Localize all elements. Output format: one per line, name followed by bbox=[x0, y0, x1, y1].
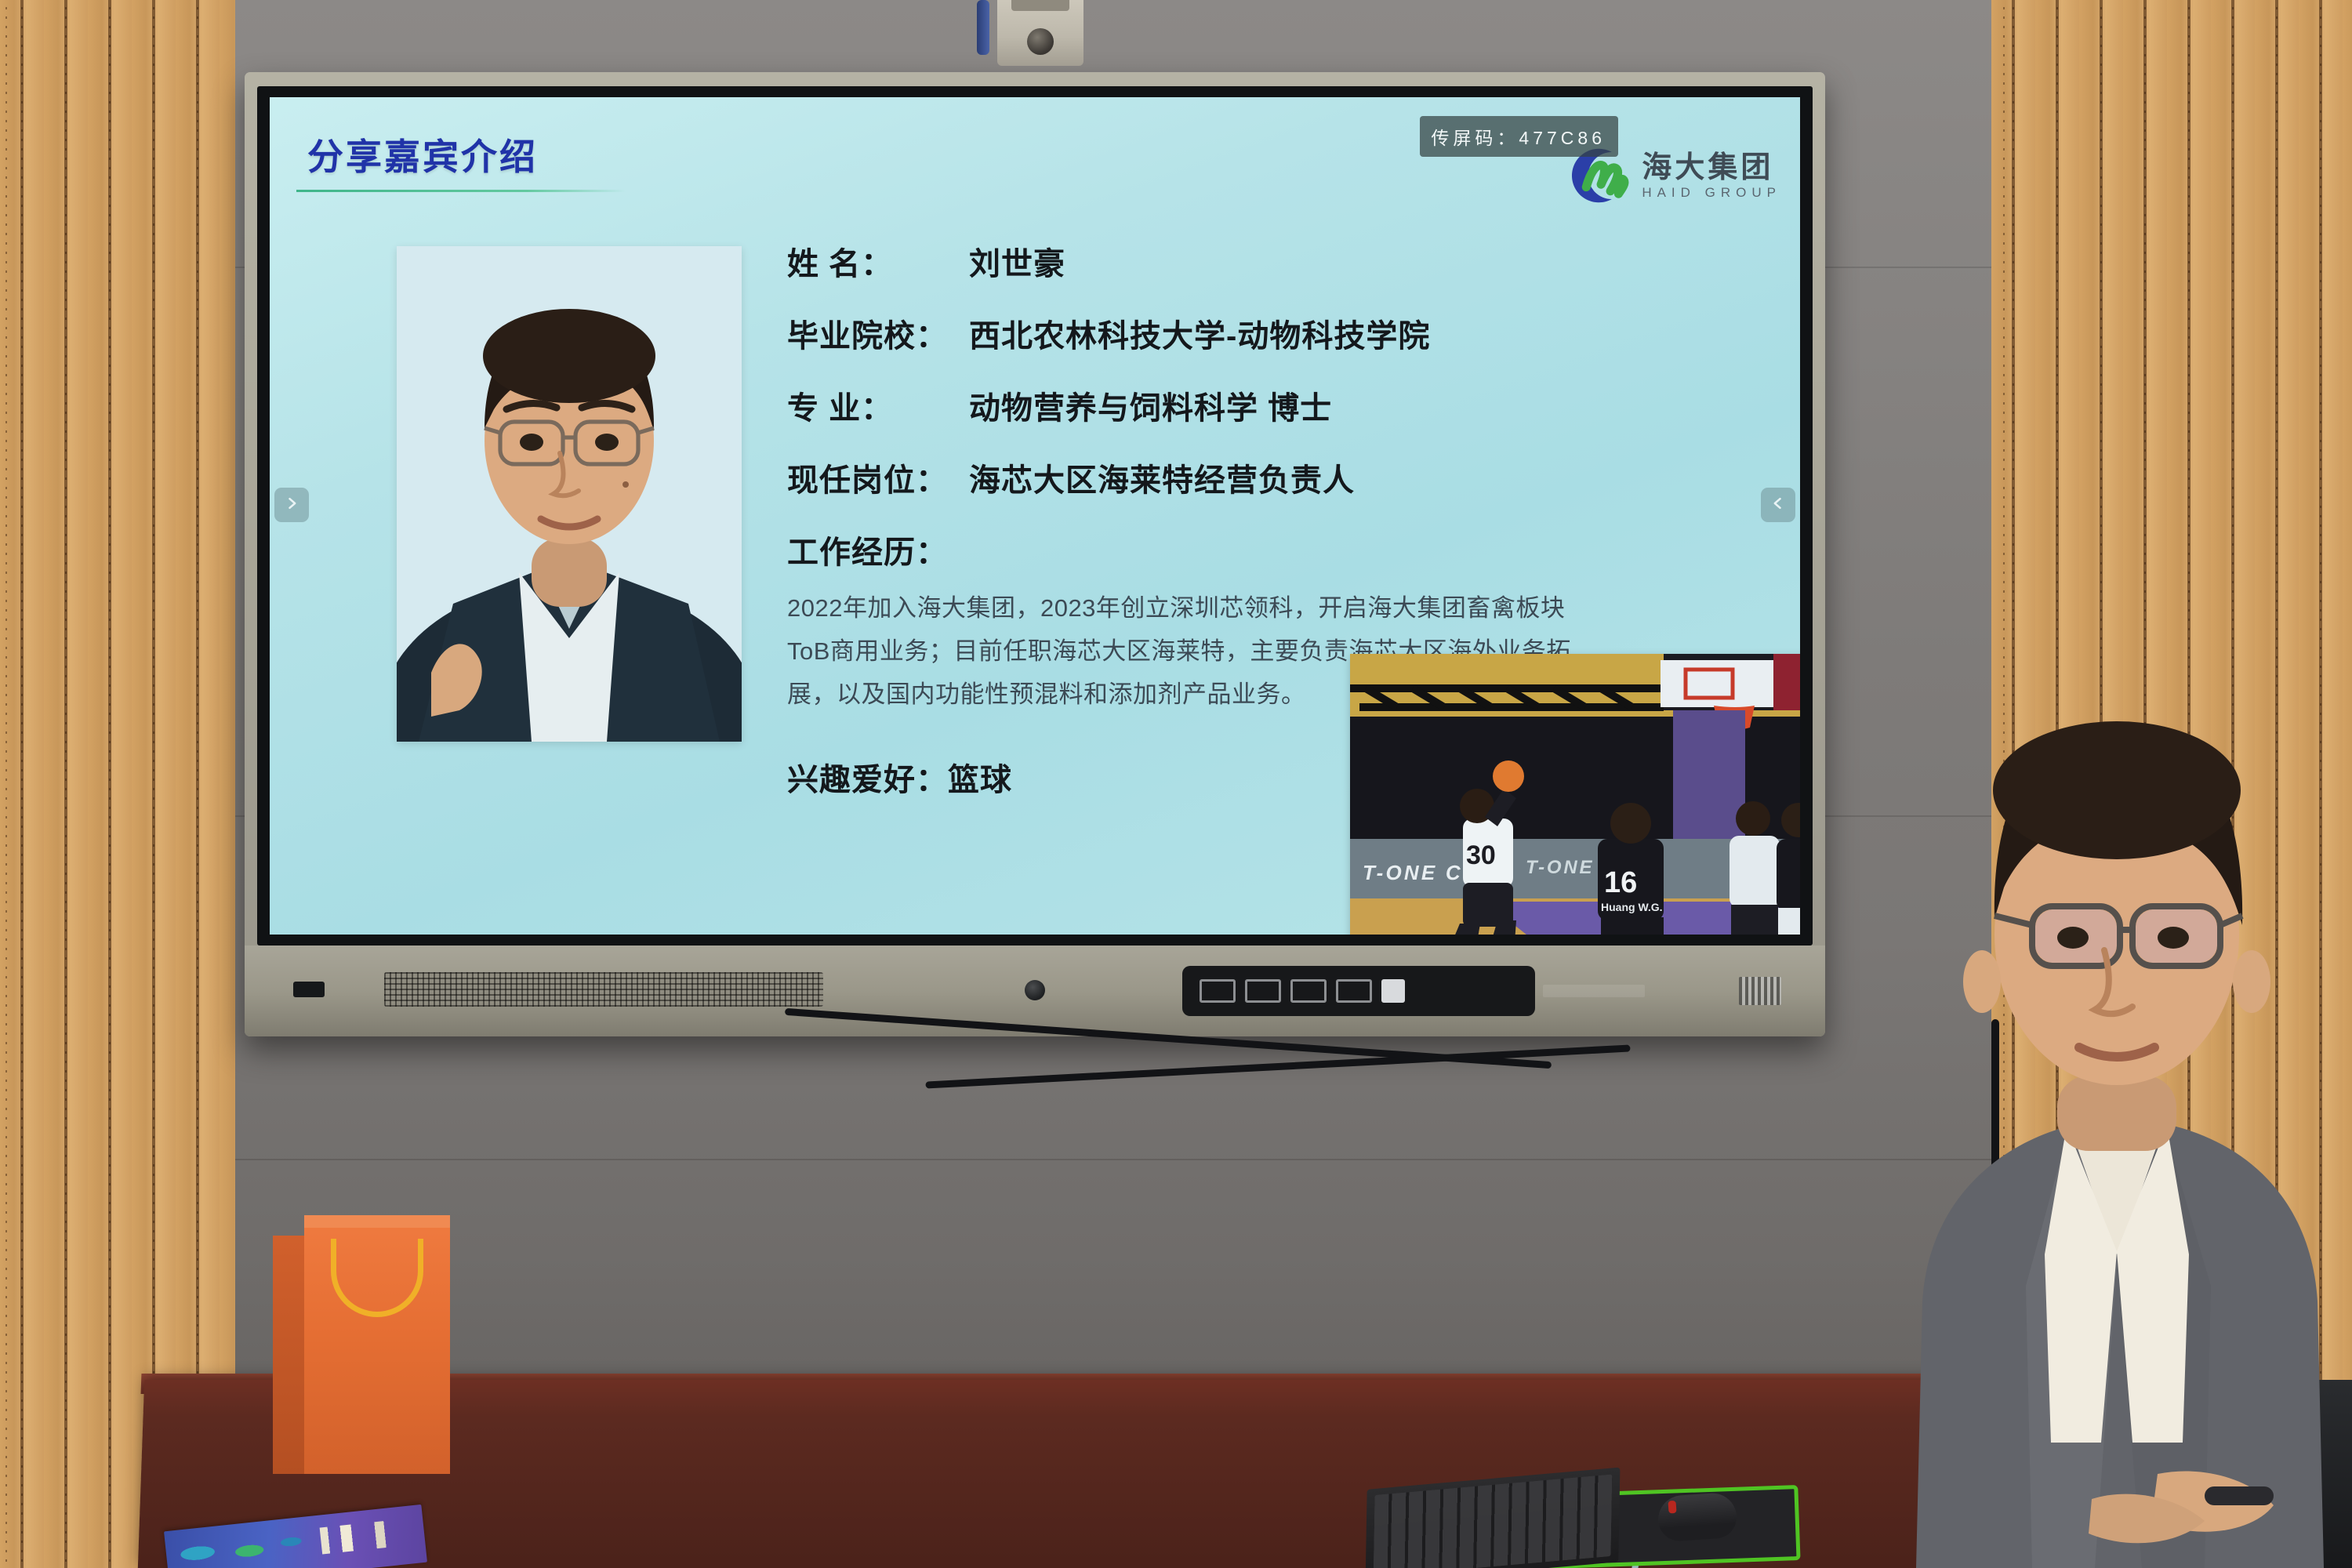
power-button[interactable] bbox=[1025, 980, 1045, 1000]
fact-value: 海芯大区海莱特经营负责人 bbox=[969, 455, 1355, 500]
svg-text:16: 16 bbox=[1604, 866, 1637, 899]
brand-plate bbox=[1543, 985, 1645, 997]
svg-text:30: 30 bbox=[1466, 840, 1496, 870]
ir-sensor-icon bbox=[293, 982, 325, 997]
fact-label: 现任岗位： bbox=[787, 455, 969, 500]
usb-port-icon[interactable] bbox=[1245, 979, 1281, 1003]
port-panel[interactable] bbox=[1182, 966, 1535, 1016]
presenter-person bbox=[1882, 627, 2352, 1568]
fact-value: 西北农林科技大学-动物科技学院 bbox=[969, 310, 1430, 356]
title-underline bbox=[296, 190, 626, 192]
gift-bag-top bbox=[304, 1215, 450, 1228]
basketball-photo: T-ONE CLUB T-ONE CL 30 bbox=[1350, 654, 1800, 935]
keyboard-keys bbox=[1374, 1474, 1613, 1568]
hdmi-port-2-icon[interactable] bbox=[1290, 979, 1327, 1003]
camera-mount-arm bbox=[1011, 0, 1069, 11]
mouse[interactable] bbox=[1657, 1492, 1738, 1543]
experience-heading: 工作经历： bbox=[787, 527, 1767, 572]
chevron-left-icon bbox=[1770, 495, 1786, 515]
display-bezel-inner: 分享嘉宾介绍 传屏码：477C86 海大集团 HAID GROUP bbox=[257, 86, 1813, 946]
speaker-grille bbox=[384, 972, 823, 1007]
brochure-text-blocks bbox=[320, 1518, 416, 1554]
gift-bag[interactable] bbox=[273, 1215, 450, 1474]
fact-value: 刘世豪 bbox=[969, 238, 1065, 284]
nav-next-button[interactable] bbox=[1761, 488, 1795, 522]
speaker-portrait-photo bbox=[397, 246, 742, 742]
chevron-right-icon bbox=[284, 495, 299, 515]
presentation-screen[interactable]: 分享嘉宾介绍 传屏码：477C86 海大集团 HAID GROUP bbox=[270, 97, 1800, 935]
logo-name-cn: 海大集团 bbox=[1642, 153, 1781, 183]
usb-port-2-icon[interactable] bbox=[1336, 979, 1372, 1003]
svg-text:Huang W.G.: Huang W.G. bbox=[1601, 901, 1663, 913]
mouse-scroll-wheel[interactable] bbox=[1668, 1501, 1676, 1514]
fact-row: 现任岗位： 海芯大区海莱特经营负责人 bbox=[787, 455, 1767, 500]
fact-label: 毕业院校： bbox=[787, 310, 969, 356]
gift-bag-side bbox=[273, 1236, 307, 1474]
camera-lens bbox=[1027, 28, 1054, 55]
webcam-icon bbox=[997, 0, 1083, 66]
fact-row: 专 业： 动物营养与饲料科学 博士 bbox=[787, 383, 1767, 428]
camera-cable bbox=[977, 0, 989, 55]
wood-acoustic-panel-left bbox=[0, 0, 235, 1568]
interactive-flat-panel-display[interactable]: 分享嘉宾介绍 传屏码：477C86 海大集团 HAID GROUP bbox=[245, 72, 1825, 1036]
fact-value: 动物营养与饲料科学 博士 bbox=[969, 383, 1332, 428]
hdmi-port-icon[interactable] bbox=[1200, 979, 1236, 1003]
fact-label: 专 业： bbox=[787, 383, 969, 428]
logo-name-en: HAID GROUP bbox=[1642, 186, 1781, 199]
brochure-fish-graphic bbox=[172, 1526, 316, 1568]
display-bottom-bezel bbox=[245, 946, 1825, 1036]
page-title: 分享嘉宾介绍 bbox=[307, 129, 538, 180]
hobby-label: 兴趣爱好： bbox=[787, 763, 948, 797]
hobby-value: 篮球 bbox=[948, 763, 1012, 797]
fact-row: 毕业院校： 西北农林科技大学-动物科技学院 bbox=[787, 310, 1767, 356]
serial-label bbox=[1739, 977, 1781, 1005]
fact-row: 姓 名： 刘世豪 bbox=[787, 238, 1767, 284]
nav-prev-button[interactable] bbox=[274, 488, 309, 522]
conference-room-scene: 分享嘉宾介绍 传屏码：477C86 海大集团 HAID GROUP bbox=[0, 0, 2352, 1568]
fact-label: 姓 名： bbox=[787, 238, 969, 284]
usb-touch-port-icon[interactable] bbox=[1381, 979, 1405, 1003]
screen-share-code: 传屏码：477C86 bbox=[1420, 116, 1618, 157]
